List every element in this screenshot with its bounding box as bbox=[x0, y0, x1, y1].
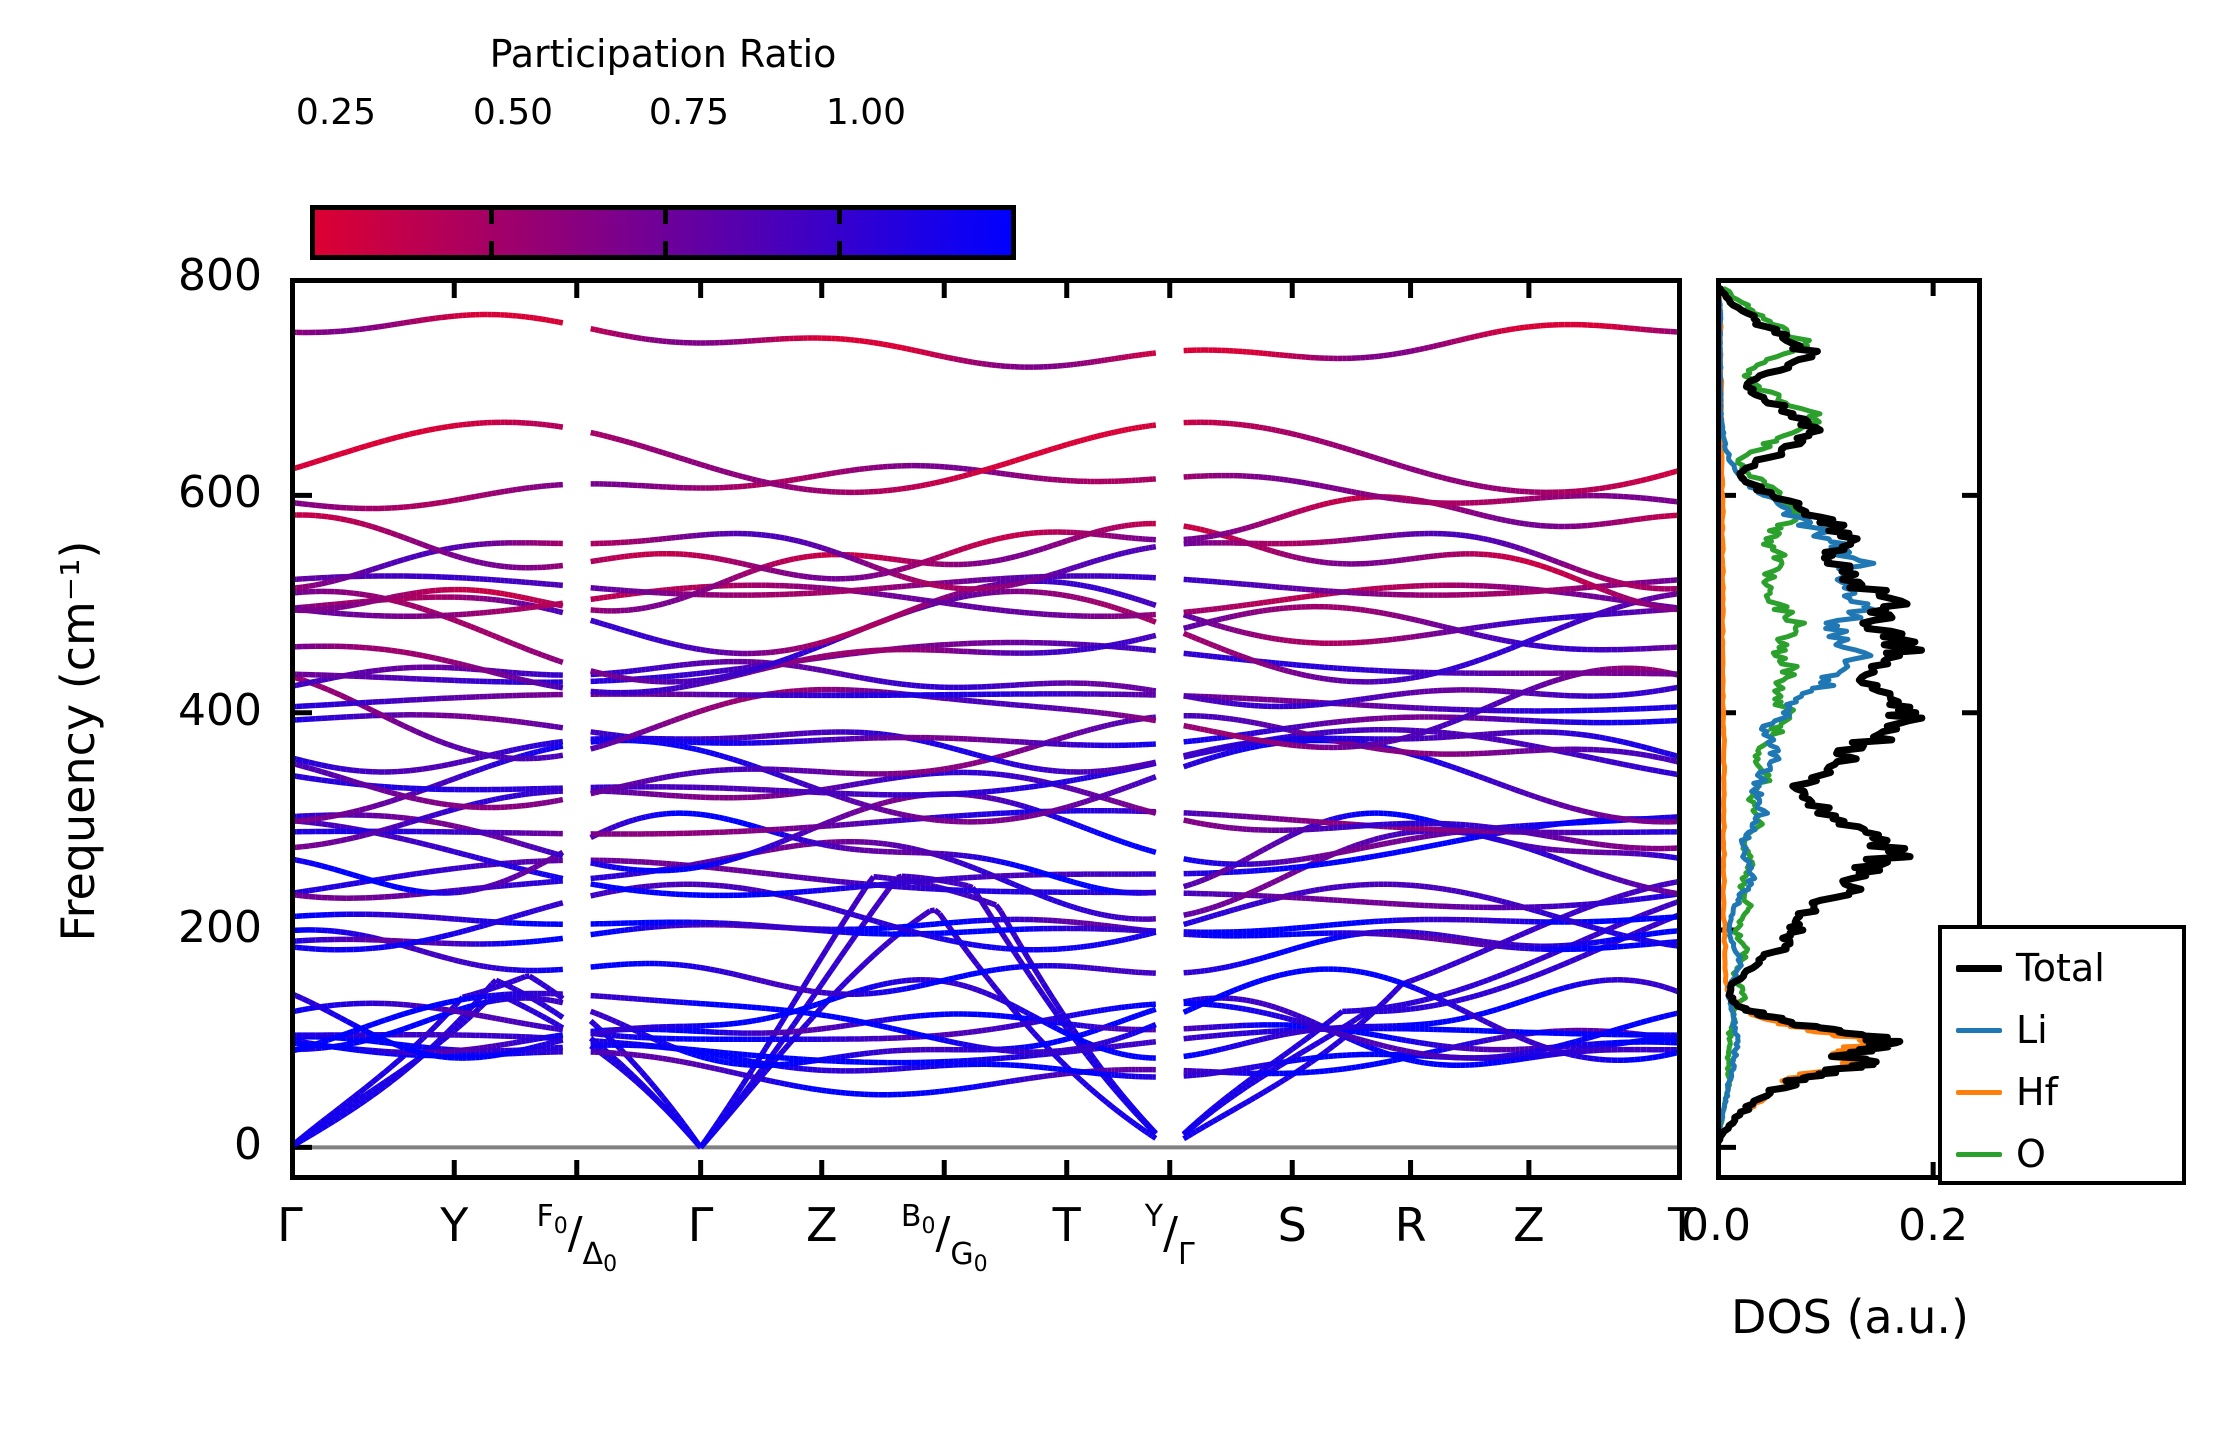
legend-item-hf: Hf bbox=[1956, 1063, 2058, 1121]
band-structure-plot bbox=[290, 278, 1682, 1180]
colorbar-tick-mark-1 bbox=[663, 210, 668, 224]
legend-label-total: Total bbox=[2016, 946, 2105, 990]
dos-x-tick-1: 0.2 bbox=[1833, 1200, 2033, 1251]
colorbar bbox=[310, 205, 1016, 260]
band-y-tick-600: 600 bbox=[178, 467, 262, 518]
dos-x-tick-0: 0.0 bbox=[1616, 1200, 1816, 1251]
legend-swatch-o bbox=[1956, 1152, 2002, 1157]
colorbar-tick-mark-2 bbox=[837, 210, 842, 224]
colorbar-tick-mark-b1 bbox=[663, 241, 668, 255]
colorbar-tick-mark-0 bbox=[489, 210, 494, 224]
legend-swatch-hf bbox=[1956, 1090, 2002, 1095]
dos-legend: TotalLiHfO bbox=[1938, 925, 2186, 1185]
legend-item-total: Total bbox=[1956, 939, 2105, 997]
band-x-tick-labels: ΓYF0/Δ0ΓZB0/G0TY/ΓSRZT bbox=[290, 1196, 1682, 1306]
colorbar-title: Participation Ratio bbox=[310, 32, 1016, 76]
band-y-tick-400: 400 bbox=[178, 685, 262, 736]
colorbar-tick-mark-b0 bbox=[489, 241, 494, 255]
dos-x-tick-labels: 0.00.2 bbox=[1716, 1196, 1982, 1256]
colorbar-tick-1: 0.50 bbox=[413, 92, 613, 133]
legend-label-hf: Hf bbox=[2016, 1070, 2058, 1114]
legend-swatch-li bbox=[1956, 1028, 2002, 1033]
colorbar-tick-0: 0.25 bbox=[236, 92, 436, 133]
dos-x-axis-label: DOS (a.u.) bbox=[1620, 1290, 2080, 1344]
legend-label-li: Li bbox=[2016, 1008, 2048, 1052]
band-y-tick-200: 200 bbox=[178, 902, 262, 953]
band-y-axis-label: Frequency (cm⁻¹) bbox=[51, 291, 105, 1191]
band-y-tick-800: 800 bbox=[178, 250, 262, 301]
colorbar-tick-labels: 0.25 0.50 0.75 1.00 bbox=[310, 92, 1016, 142]
colorbar-tick-mark-b2 bbox=[837, 241, 842, 255]
legend-item-o: O bbox=[1956, 1125, 2046, 1183]
legend-label-o: O bbox=[2016, 1132, 2046, 1176]
colorbar-tick-3: 1.00 bbox=[766, 92, 966, 133]
band-y-tick-0: 0 bbox=[234, 1119, 262, 1170]
legend-item-li: Li bbox=[1956, 1001, 2048, 1059]
colorbar-tick-2: 0.75 bbox=[589, 92, 789, 133]
band-x-tick-0: Γ bbox=[200, 1202, 380, 1248]
legend-swatch-total bbox=[1956, 965, 2002, 972]
